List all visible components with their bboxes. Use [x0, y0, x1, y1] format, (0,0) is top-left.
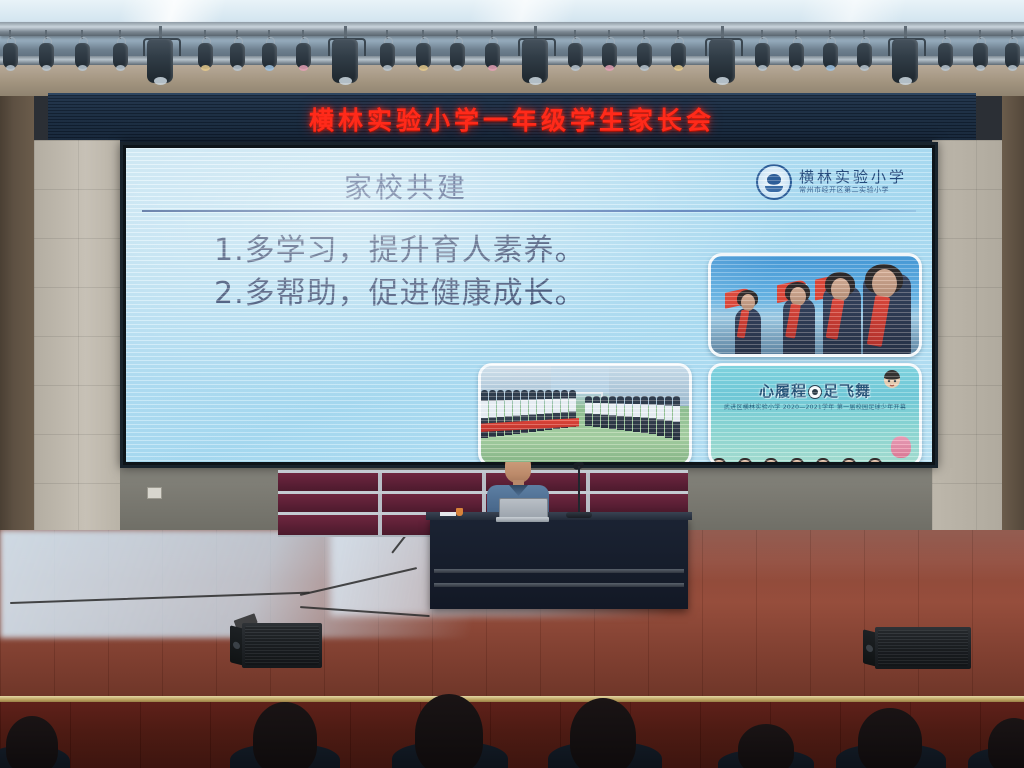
cartoon-boy-icon: [879, 368, 905, 394]
floor-monitor-speaker-right: [875, 627, 971, 669]
school-logo: 横林实验小学 常州市经开区第二实验小学: [756, 160, 924, 204]
podium-table: [430, 517, 688, 609]
school-logo-subname: 常州市经开区第二实验小学: [799, 187, 907, 195]
wall-wood-trim-left: [0, 96, 34, 532]
acoustic-panel-right: [932, 140, 1002, 532]
microphone-base: [566, 512, 592, 518]
photo-students-with-flags: [708, 253, 922, 357]
desk-items: [440, 508, 500, 516]
soccer-ball-icon: [808, 385, 822, 399]
acoustic-panel-left: [34, 140, 120, 532]
audience-head: [988, 718, 1024, 768]
microphone-stand: [578, 466, 580, 516]
photo-stage-backdrop: 心履程足飞舞 武进区横林实验小学 2020—2021学年 第一届校园足球少年开幕: [708, 363, 922, 462]
audience-head: [253, 702, 317, 768]
auditorium-scene: 横林实验小学一年级学生家长会 家校共建 横林实验小学 常州市经开区第二实验小学 …: [0, 0, 1024, 768]
led-display-screen: 家校共建 横林实验小学 常州市经开区第二实验小学 1.多学习，提升育人素养。 2…: [120, 142, 938, 468]
audience-row: [0, 690, 1024, 768]
slide-title: 家校共建: [126, 166, 686, 206]
backdrop-title-left: 心履程: [759, 382, 807, 400]
wall-wood-trim-right: [1002, 96, 1024, 532]
audience-head: [6, 716, 58, 768]
cup-icon: [456, 508, 463, 516]
slide-bullet-item: 1.多学习，提升育人素养。: [214, 230, 586, 273]
slide-title-divider: [142, 210, 916, 212]
photo-field-flag-ceremony: [478, 363, 692, 462]
mascot-icon: [891, 436, 911, 458]
wall-outlet: [147, 487, 162, 499]
audience-head: [738, 724, 794, 768]
ceiling-truss: [0, 0, 1024, 96]
event-banner: 横林实验小学一年级学生家长会: [48, 93, 976, 144]
audience-head: [415, 694, 483, 768]
backdrop-title-right: 足飞舞: [823, 382, 871, 400]
audience-head: [858, 708, 922, 768]
floor-monitor-speaker-left: [242, 623, 322, 668]
audience-head: [570, 698, 636, 768]
school-logo-name: 横林实验小学: [799, 169, 907, 186]
laptop[interactable]: [496, 498, 549, 522]
slide-bullet-list: 1.多学习，提升育人素养。 2.多帮助，促进健康成长。: [214, 230, 586, 315]
presentation-slide: 家校共建 横林实验小学 常州市经开区第二实验小学 1.多学习，提升育人素养。 2…: [126, 148, 932, 462]
lighting-truss-bar: [0, 22, 1024, 36]
backdrop-subtitle: 武进区横林实验小学 2020—2021学年 第一届校园足球少年开幕: [717, 402, 913, 411]
slide-bullet-item: 2.多帮助，促进健康成长。: [214, 273, 586, 316]
school-seal-icon: [756, 164, 792, 200]
event-banner-text: 横林实验小学一年级学生家长会: [309, 101, 715, 137]
